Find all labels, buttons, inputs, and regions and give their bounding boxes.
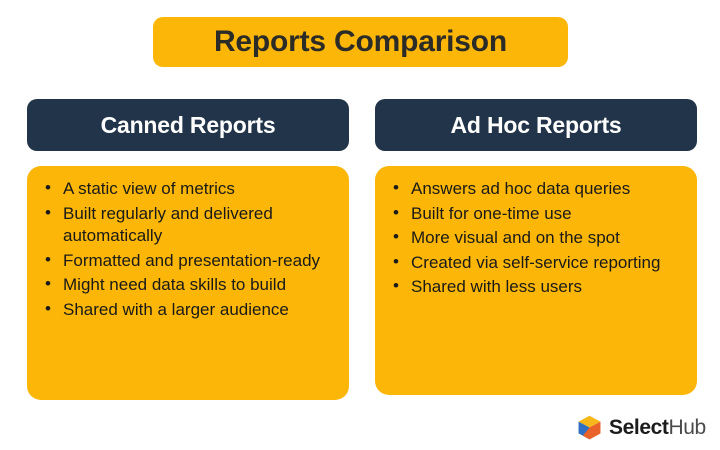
reports-comparison-infographic: Reports Comparison Canned Reports Ad Hoc…	[0, 0, 720, 450]
list-item: Answers ad hoc data queries	[389, 178, 681, 201]
column-header-canned-reports: Canned Reports	[27, 99, 349, 151]
list-item: More visual and on the spot	[389, 227, 681, 250]
list-item: Formatted and presentation-ready	[41, 250, 333, 273]
selecthub-wordmark: SelectHub	[609, 417, 706, 438]
page-title: Reports Comparison	[214, 27, 507, 57]
column-header-ad-hoc-reports: Ad Hoc Reports	[375, 99, 697, 151]
list-item: Built regularly and delivered automatica…	[41, 203, 333, 248]
list-item: Built for one-time use	[389, 203, 681, 226]
column-body-ad-hoc-reports: Answers ad hoc data queries Built for on…	[375, 166, 697, 395]
list-item: Shared with a larger audience	[41, 299, 333, 322]
list-item: Created via self-service reporting	[389, 252, 681, 275]
selecthub-cube-icon	[576, 414, 603, 441]
column-body-canned-reports: A static view of metrics Built regularly…	[27, 166, 349, 400]
bullet-list: A static view of metrics Built regularly…	[41, 178, 333, 322]
bullet-list: Answers ad hoc data queries Built for on…	[389, 178, 681, 299]
page-title-banner: Reports Comparison	[153, 17, 568, 67]
selecthub-logo: SelectHub	[576, 412, 706, 442]
list-item: A static view of metrics	[41, 178, 333, 201]
logo-word-primary: Select	[609, 416, 668, 439]
column-header-label: Ad Hoc Reports	[451, 112, 622, 139]
list-item: Might need data skills to build	[41, 274, 333, 297]
logo-word-secondary: Hub	[668, 416, 705, 439]
list-item: Shared with less users	[389, 276, 681, 299]
column-header-label: Canned Reports	[101, 112, 276, 139]
